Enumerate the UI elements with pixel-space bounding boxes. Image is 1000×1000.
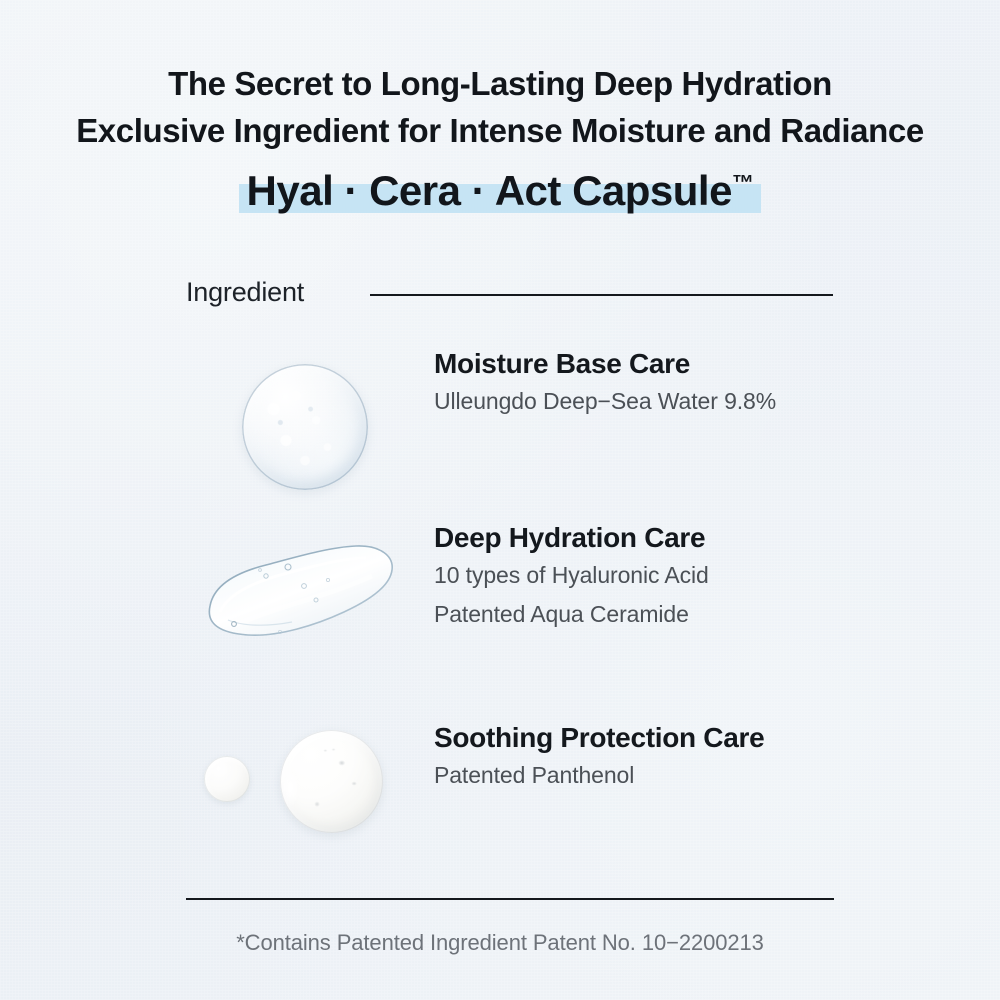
section-header: Ingredient — [186, 275, 836, 315]
ingredient-detail: Ulleungdo Deep−Sea Water 9.8% — [434, 382, 776, 421]
ingredient-text: Soothing Protection Care Patented Panthe… — [434, 720, 764, 795]
ingredient-detail: 10 types of Hyaluronic Acid — [434, 556, 709, 595]
gel-smear-icon — [204, 534, 399, 642]
headline-line-2: Exclusive Ingredient for Intense Moistur… — [0, 107, 1000, 154]
ingredient-title: Moisture Base Care — [434, 346, 776, 382]
product-ingredient-infographic: The Secret to Long-Lasting Deep Hydratio… — [0, 0, 1000, 1000]
patent-footnote: *Contains Patented Ingredient Patent No.… — [0, 928, 1000, 958]
ingredient-text: Deep Hydration Care 10 types of Hyaluron… — [434, 520, 709, 634]
gel-droplet-icon — [242, 364, 368, 490]
section-label: Ingredient — [186, 275, 304, 309]
cream-droplet-large-icon — [280, 730, 383, 833]
ingredient-row: Deep Hydration Care 10 types of Hyaluron… — [186, 520, 886, 695]
ingredient-text: Moisture Base Care Ulleungdo Deep−Sea Wa… — [434, 346, 776, 421]
clear-gel-smear-image — [186, 520, 426, 670]
clear-round-gel-drop-image — [186, 346, 426, 496]
trademark-symbol: ™ — [732, 170, 754, 195]
brandmark-block: Hyal · Cera · Act Capsule™ — [0, 163, 1000, 223]
cream-droplet-small-icon — [204, 756, 250, 802]
section-divider — [370, 294, 833, 296]
footer-divider — [186, 898, 834, 900]
ingredient-row: Moisture Base Care Ulleungdo Deep−Sea Wa… — [186, 346, 886, 516]
brandmark: Hyal · Cera · Act Capsule™ — [239, 163, 762, 219]
headline-line-1: The Secret to Long-Lasting Deep Hydratio… — [0, 60, 1000, 107]
ingredient-row: Soothing Protection Care Patented Panthe… — [186, 720, 886, 860]
ingredient-title: Deep Hydration Care — [434, 520, 709, 556]
ingredient-title: Soothing Protection Care — [434, 720, 764, 756]
white-cream-droplets-image — [186, 720, 426, 870]
headline-block: The Secret to Long-Lasting Deep Hydratio… — [0, 60, 1000, 154]
ingredient-detail: Patented Aqua Ceramide — [434, 595, 709, 634]
brandmark-text: Hyal · Cera · Act Capsule — [247, 167, 732, 214]
ingredient-detail: Patented Panthenol — [434, 756, 764, 795]
